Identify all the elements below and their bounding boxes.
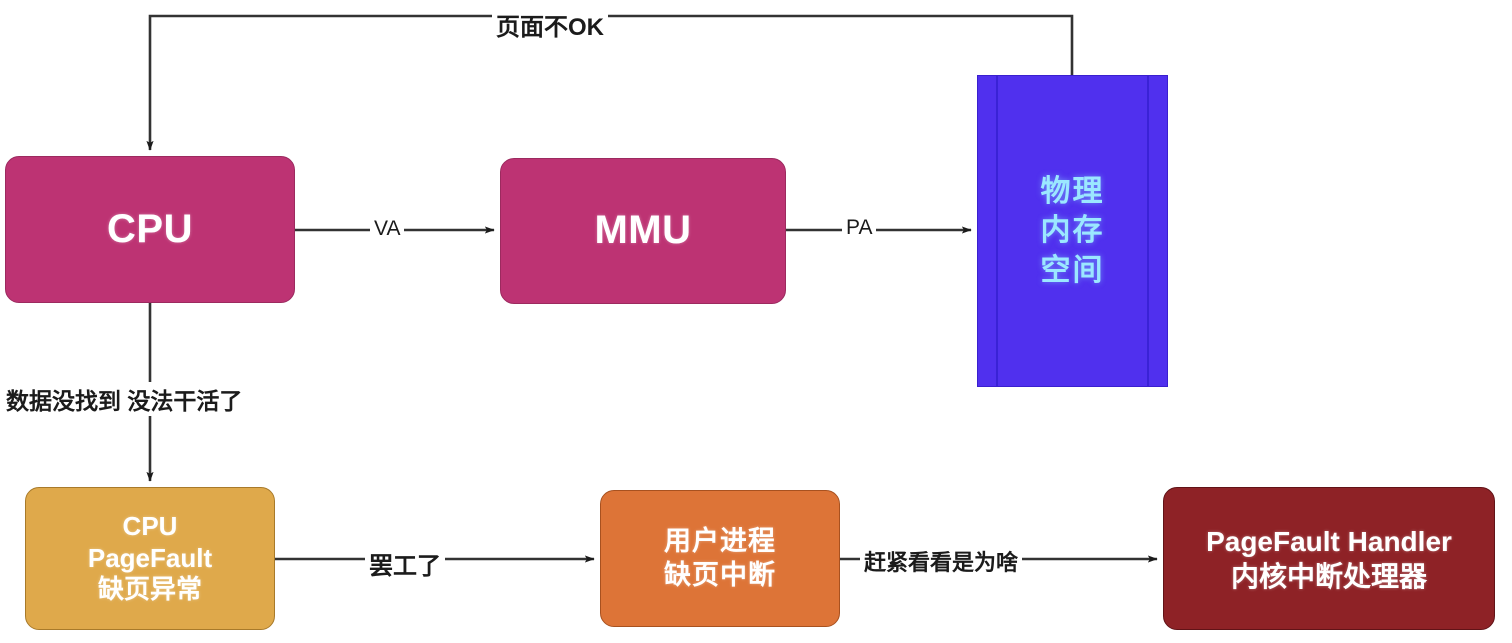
edge-label-page-not-ok: 页面不OK: [492, 7, 608, 42]
node-cpu-pagefault-label: CPU PageFault 缺页异常: [88, 511, 212, 606]
memory-right-rule: [1147, 76, 1149, 386]
node-user-process[interactable]: 用户进程 缺页中断: [600, 490, 840, 627]
node-cpu[interactable]: CPU: [5, 156, 295, 303]
node-mmu-label: MMU: [594, 207, 691, 254]
node-cpu-pagefault[interactable]: CPU PageFault 缺页异常: [25, 487, 275, 630]
node-pagefault-handler[interactable]: PageFault Handler 内核中断处理器 @稀土掘金技术社区: [1163, 487, 1495, 630]
edge-label-pa: PA: [842, 216, 876, 240]
node-mmu[interactable]: MMU: [500, 158, 786, 304]
node-physical-memory-label: 物理 内存 空间: [1041, 172, 1105, 291]
diagram-canvas: CPU MMU 物理 内存 空间 CPU PageFault 缺页异常 用户进程…: [0, 0, 1512, 643]
edge-page-not-ok: [150, 16, 1072, 150]
edge-label-va: VA: [370, 217, 404, 241]
node-pagefault-handler-label: PageFault Handler 内核中断处理器: [1206, 524, 1452, 594]
node-cpu-label: CPU: [107, 206, 193, 253]
edge-label-no-data-found: 数据没找到 没法干活了: [2, 382, 246, 416]
memory-left-rule: [996, 76, 998, 386]
node-physical-memory[interactable]: 物理 内存 空间: [977, 75, 1168, 387]
edge-label-strike: 罢工了: [365, 546, 445, 581]
edge-label-check-why: 赶紧看看是为啥: [860, 545, 1022, 577]
node-user-process-label: 用户进程 缺页中断: [664, 525, 776, 593]
